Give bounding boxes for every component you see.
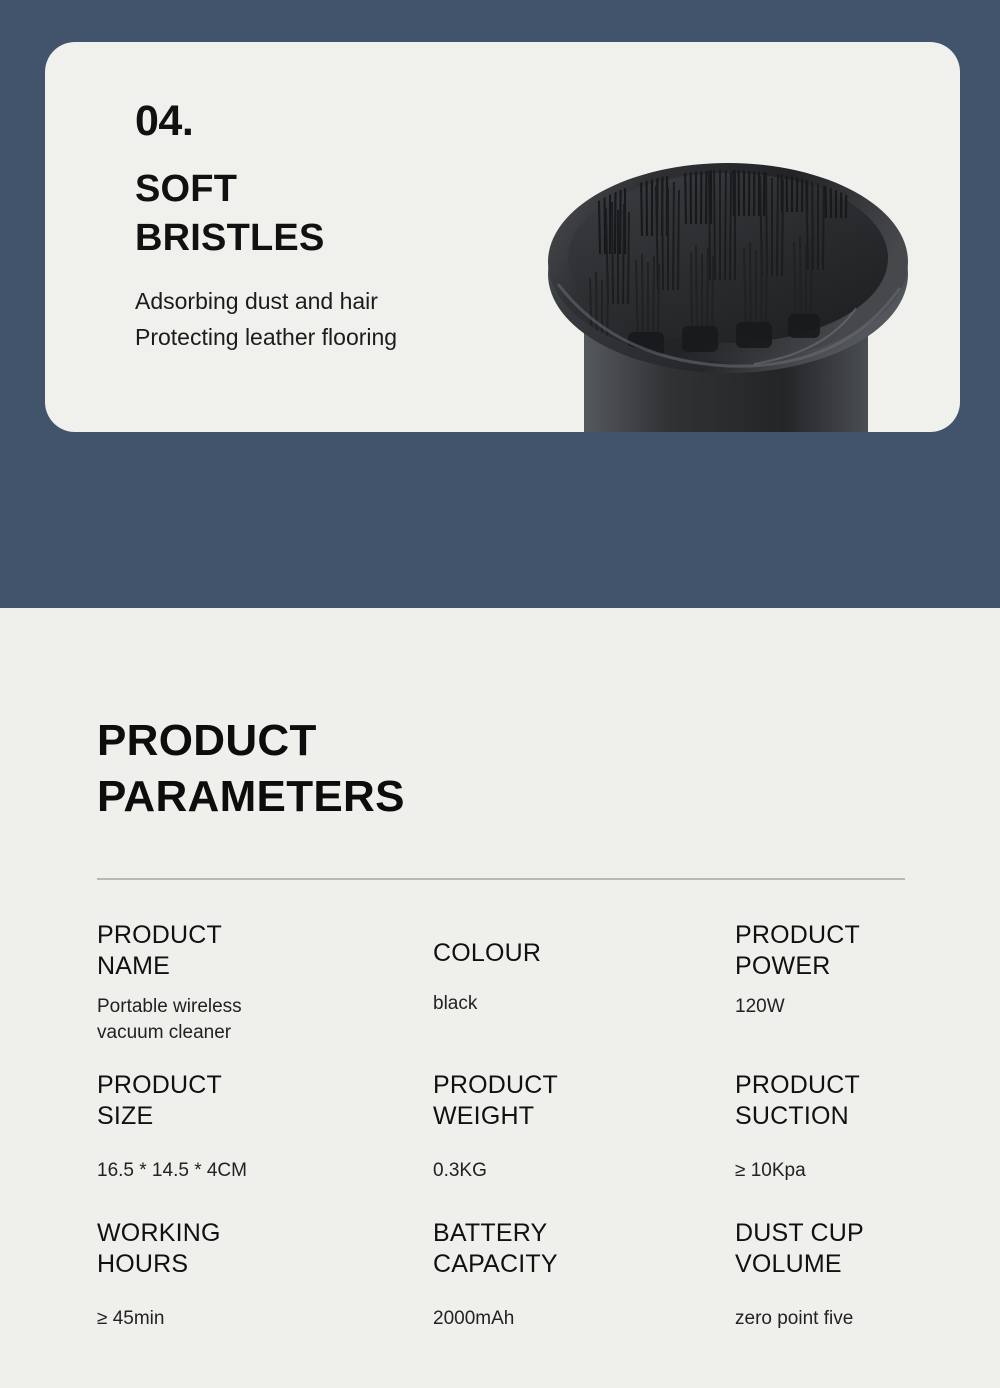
brush-head-product-image — [496, 42, 960, 432]
feature-title: SOFT BRISTLES — [135, 165, 565, 262]
feature-card-text-block: 04. SOFT BRISTLES Adsorbing dust and hai… — [135, 100, 565, 356]
parameters-grid: PRODUCT NAME Portable wireless vacuum cl… — [97, 920, 917, 1332]
param-colour: COLOUR black — [433, 920, 735, 1070]
param-label: PRODUCT NAME — [97, 920, 433, 982]
parameters-heading-line-1: PRODUCT — [97, 713, 405, 769]
section-divider — [97, 878, 905, 880]
param-label: WORKING HOURS — [97, 1218, 433, 1280]
product-parameters-heading: PRODUCT PARAMETERS — [97, 713, 405, 826]
feature-description-line-1: Adsorbing dust and hair — [135, 284, 565, 320]
feature-card-soft-bristles: 04. SOFT BRISTLES Adsorbing dust and hai… — [45, 42, 960, 432]
feature-description-line-2: Protecting leather flooring — [135, 320, 565, 356]
feature-description: Adsorbing dust and hair Protecting leath… — [135, 284, 565, 355]
param-label: PRODUCT SIZE — [97, 1070, 433, 1132]
product-detail-page: 04. SOFT BRISTLES Adsorbing dust and hai… — [0, 0, 1000, 1388]
param-value: ≥ 45min — [97, 1306, 433, 1332]
param-product-suction: PRODUCT SUCTION ≥ 10Kpa — [735, 1070, 917, 1218]
param-dust-cup-volume: DUST CUP VOLUME zero point five — [735, 1218, 917, 1332]
param-working-hours: WORKING HOURS ≥ 45min — [97, 1218, 433, 1332]
param-value: black — [433, 991, 735, 1017]
param-label: PRODUCT POWER — [735, 920, 917, 982]
feature-title-line-2: BRISTLES — [135, 214, 565, 263]
param-value: Portable wireless vacuum cleaner — [97, 994, 433, 1045]
param-product-power: PRODUCT POWER 120W — [735, 920, 917, 1070]
product-parameters-section: PRODUCT PARAMETERS PRODUCT NAME Portable… — [0, 608, 1000, 1388]
param-value: 16.5 * 14.5 * 4CM — [97, 1158, 433, 1184]
param-product-name: PRODUCT NAME Portable wireless vacuum cl… — [97, 920, 433, 1070]
param-label: COLOUR — [433, 920, 735, 969]
feature-title-line-1: SOFT — [135, 165, 565, 214]
parameters-heading-line-2: PARAMETERS — [97, 769, 405, 825]
param-value: ≥ 10Kpa — [735, 1158, 917, 1184]
param-product-weight: PRODUCT WEIGHT 0.3KG — [433, 1070, 735, 1218]
param-label: PRODUCT WEIGHT — [433, 1070, 735, 1132]
param-value: 0.3KG — [433, 1158, 735, 1184]
param-product-size: PRODUCT SIZE 16.5 * 14.5 * 4CM — [97, 1070, 433, 1218]
param-label: PRODUCT SUCTION — [735, 1070, 917, 1132]
step-number: 04. — [135, 100, 565, 143]
param-value: zero point five — [735, 1306, 917, 1332]
param-label: BATTERY CAPACITY — [433, 1218, 735, 1280]
param-value: 120W — [735, 994, 917, 1020]
param-label: DUST CUP VOLUME — [735, 1218, 917, 1280]
param-battery-capacity: BATTERY CAPACITY 2000mAh — [433, 1218, 735, 1332]
param-value: 2000mAh — [433, 1306, 735, 1332]
